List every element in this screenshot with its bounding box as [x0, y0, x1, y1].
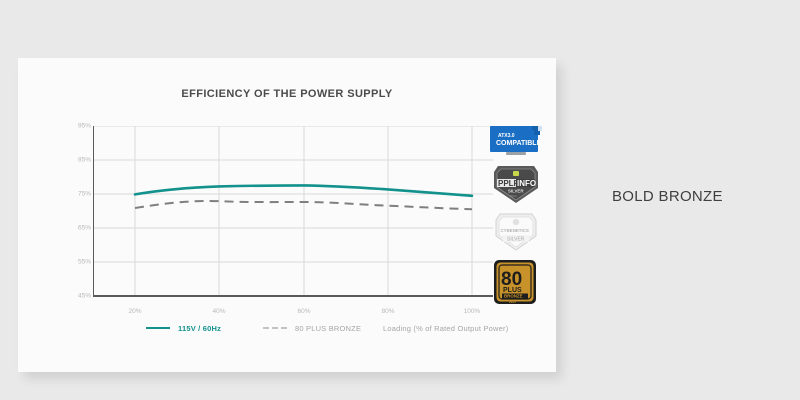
pplp-info-silver-badge: PPLP INFO SILVER 2024 — [488, 162, 544, 206]
x-tick-label: 100% — [464, 308, 481, 315]
badge-year: 2024 — [509, 300, 516, 304]
x-tick-label: 40% — [212, 308, 225, 315]
legend-axis-note: Loading (% of Rated Output Power) — [383, 320, 508, 336]
atx30-compatible-badge: ATX3.0 COMPATIBLE — [488, 124, 544, 156]
certification-badges: ATX3.0 COMPATIBLE PPLP INFO SILVER 2024 — [488, 118, 548, 303]
y-tick-label: 65% — [78, 224, 91, 231]
80-plus-bronze-icon: 80 PLUS BRONZE 2024 — [488, 258, 544, 306]
chart-title: EFFICIENCY OF THE POWER SUPPLY — [18, 88, 556, 100]
pplp-line3: SILVER — [508, 189, 524, 194]
badge-bronze: BRONZE — [504, 294, 523, 299]
cyb-line1: CYBENETICS — [501, 228, 529, 233]
cyb-line2: SILVER — [507, 237, 525, 243]
product-headline: BOLD BRONZE — [612, 188, 792, 205]
y-axis-tick-labels: 95% 85% 75% 65% 55% 45% — [73, 126, 91, 306]
y-tick-label: 45% — [78, 292, 91, 299]
x-tick-label: 60% — [297, 308, 310, 315]
pplp-line2: INFO — [517, 179, 536, 188]
80-plus-bronze-badge: 80 PLUS BRONZE 2024 — [488, 258, 544, 306]
y-tick-label: 95% — [78, 123, 91, 130]
pplp-info-shield-icon: PPLP INFO SILVER 2024 — [488, 162, 544, 206]
legend-label: 80 PLUS BRONZE — [295, 324, 361, 333]
legend-solid-line-icon — [146, 327, 170, 329]
legend-item-80-plus-bronze: 80 PLUS BRONZE — [263, 320, 361, 336]
efficiency-line-chart — [93, 126, 493, 306]
efficiency-chart-card: EFFICIENCY OF THE POWER SUPPLY 95% 85% 7… — [18, 58, 556, 372]
pplp-line4: 2024 — [510, 194, 517, 198]
legend-label: 115V / 60Hz — [178, 324, 221, 333]
vertical-gridlines — [135, 126, 472, 296]
x-tick-label: 20% — [128, 308, 141, 315]
cybenetics-silver-badge: CYBENETICS SILVER — [488, 210, 544, 254]
legend-dashed-line-icon — [263, 327, 287, 329]
x-axis-caption: Loading (% of Rated Output Power) — [383, 324, 508, 333]
plot-area — [93, 126, 493, 306]
y-tick-label: 85% — [78, 156, 91, 163]
cybenetics-shield-icon: CYBENETICS SILVER — [488, 210, 544, 254]
y-tick-label: 75% — [78, 190, 91, 197]
x-tick-label: 80% — [381, 308, 394, 315]
legend-item-115v-60hz: 115V / 60Hz — [146, 320, 221, 336]
atx-line1: ATX3.0 — [498, 133, 515, 139]
atx-line2: COMPATIBLE — [496, 140, 542, 147]
atx30-compatible-icon: ATX3.0 COMPATIBLE — [488, 124, 544, 156]
y-tick-label: 55% — [78, 258, 91, 265]
chart-legend: 115V / 60Hz 80 PLUS BRONZE Loading (% of… — [128, 320, 548, 336]
screenshot-root: EFFICIENCY OF THE POWER SUPPLY 95% 85% 7… — [0, 0, 800, 400]
